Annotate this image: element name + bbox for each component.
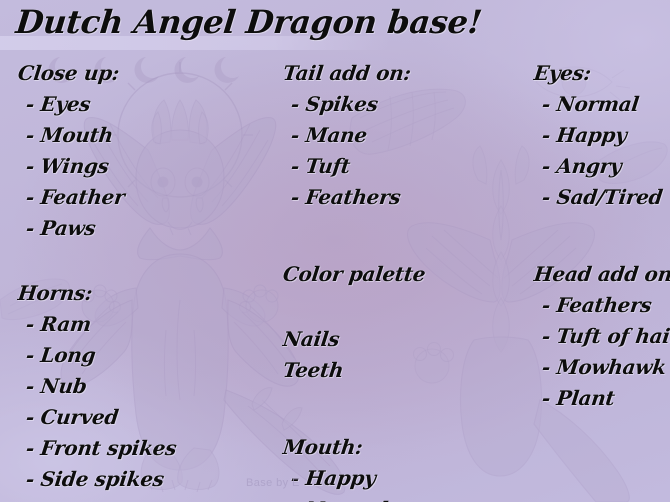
list-item[interactable]: - Tuft of hair xyxy=(532,321,670,352)
column-spacer xyxy=(283,290,425,324)
list-item[interactable]: - Mane xyxy=(281,120,427,151)
list-item[interactable]: - Plant xyxy=(532,383,670,414)
group-close-up: Close up: - Eyes - Mouth - Wings - Feath… xyxy=(18,58,176,244)
page-title: Dutch Angel Dragon base! xyxy=(14,2,484,42)
column-spacer xyxy=(283,386,425,432)
list-item[interactable]: - Tuft xyxy=(281,151,427,182)
list-item[interactable]: - Wings xyxy=(16,151,178,182)
list-item[interactable]: - Spikes xyxy=(281,89,427,120)
column-middle: Tail add on: - Spikes - Mane - Tuft - Fe… xyxy=(283,58,425,502)
list-item[interactable]: - Mowhawk xyxy=(532,352,670,383)
column-spacer xyxy=(534,213,670,259)
column-right: Eyes: - Normal - Happy - Angry - Sad/Tir… xyxy=(534,58,670,414)
group-tail-add-on: Tail add on: - Spikes - Mane - Tuft - Fe… xyxy=(283,58,425,213)
group-horns: Horns: - Ram - Long - Nub - Curved - Fro… xyxy=(18,278,176,495)
reference-sheet-canvas: .ln { fill: #b3a6cb; stroke: #a393bd; st… xyxy=(0,0,670,502)
list-item[interactable]: - Nub xyxy=(16,371,178,402)
list-item[interactable]: - Ram xyxy=(16,309,178,340)
list-item[interactable]: - Feathers xyxy=(532,290,670,321)
group-heading-tail-add-on: Tail add on: xyxy=(281,58,427,89)
list-item[interactable]: - Mouth xyxy=(16,120,178,151)
column-spacer xyxy=(18,244,176,278)
list-item-teeth[interactable]: Teeth xyxy=(281,355,427,386)
list-item[interactable]: - Feathers xyxy=(281,182,427,213)
group-heading-head-add-on: Head add on: xyxy=(532,259,670,290)
group-palette-parts: Nails Teeth xyxy=(283,324,425,386)
list-item[interactable]: - Curved xyxy=(16,402,178,433)
column-spacer xyxy=(283,213,425,259)
group-heading-close-up: Close up: xyxy=(16,58,178,89)
group-color-palette: Color palette xyxy=(283,259,425,290)
list-item-nails[interactable]: Nails xyxy=(281,324,427,355)
column-left: Close up: - Eyes - Mouth - Wings - Feath… xyxy=(18,58,176,495)
list-item[interactable]: - Feather xyxy=(16,182,178,213)
list-item[interactable]: - Side spikes xyxy=(16,464,178,495)
list-item[interactable]: - Paws xyxy=(16,213,178,244)
list-item[interactable]: - Normal xyxy=(532,89,670,120)
list-item[interactable]: - Angry xyxy=(532,151,670,182)
group-eyes: Eyes: - Normal - Happy - Angry - Sad/Tir… xyxy=(534,58,670,213)
group-heading-color-palette: Color palette xyxy=(281,259,427,290)
list-item[interactable]: - Happy xyxy=(532,120,670,151)
list-item[interactable]: - Front spikes xyxy=(16,433,178,464)
list-item[interactable]: - Eyes xyxy=(16,89,178,120)
group-heading-eyes: Eyes: xyxy=(532,58,670,89)
group-head-add-on: Head add on: - Feathers - Tuft of hair -… xyxy=(534,259,670,414)
group-heading-mouth: Mouth: xyxy=(281,432,427,463)
list-item[interactable]: - Happy xyxy=(281,463,427,494)
group-mouth: Mouth: - Happy - Normal xyxy=(283,432,425,502)
artist-watermark: Base by E xyxy=(246,477,300,489)
list-item[interactable]: - Normal xyxy=(281,494,427,502)
group-heading-horns: Horns: xyxy=(16,278,178,309)
list-item[interactable]: - Sad/Tired xyxy=(532,182,670,213)
list-item[interactable]: - Long xyxy=(16,340,178,371)
